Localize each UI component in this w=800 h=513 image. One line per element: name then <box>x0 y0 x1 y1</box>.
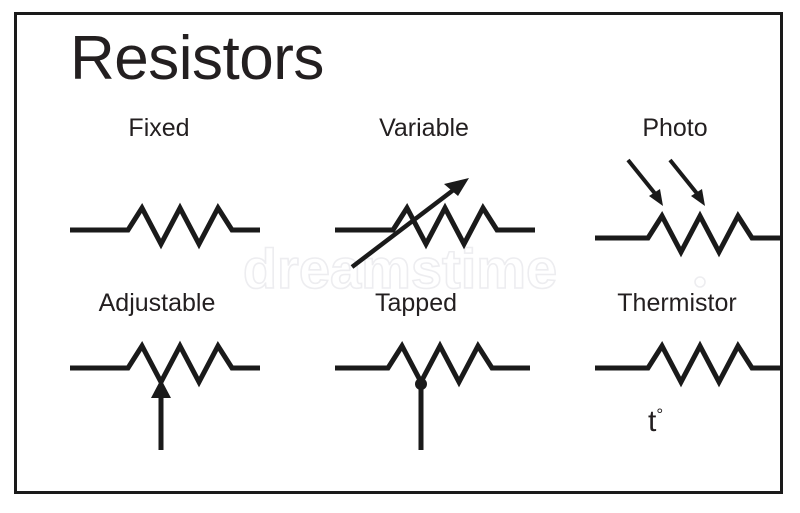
thermistor-degree-icon: ° <box>656 405 663 424</box>
tap-line-icon <box>415 378 427 450</box>
tapped-resistor-icon <box>330 340 530 460</box>
thermistor-icon <box>590 340 780 450</box>
symbol-label-variable: Variable <box>379 113 469 143</box>
symbol-label-adjustable: Adjustable <box>99 288 216 318</box>
page-title: Resistors <box>70 24 324 94</box>
symbol-label-thermistor: Thermistor <box>617 288 736 318</box>
adjustable-arrow-icon <box>151 379 171 450</box>
light-arrow-1-icon <box>628 160 663 206</box>
fixed-resistor-icon <box>60 192 260 254</box>
symbol-label-tapped: Tapped <box>375 288 457 318</box>
symbol-label-fixed: Fixed <box>128 113 189 143</box>
light-arrow-2-icon <box>670 160 705 206</box>
resistor-symbols-poster: dreamstime Resistors Fixed Variable Phot… <box>0 0 800 513</box>
variable-resistor-icon <box>330 160 540 285</box>
thermistor-annotation: t° <box>648 398 663 439</box>
adjustable-resistor-icon <box>60 340 260 460</box>
photo-resistor-icon <box>590 150 780 260</box>
symbol-label-photo: Photo <box>642 113 707 143</box>
